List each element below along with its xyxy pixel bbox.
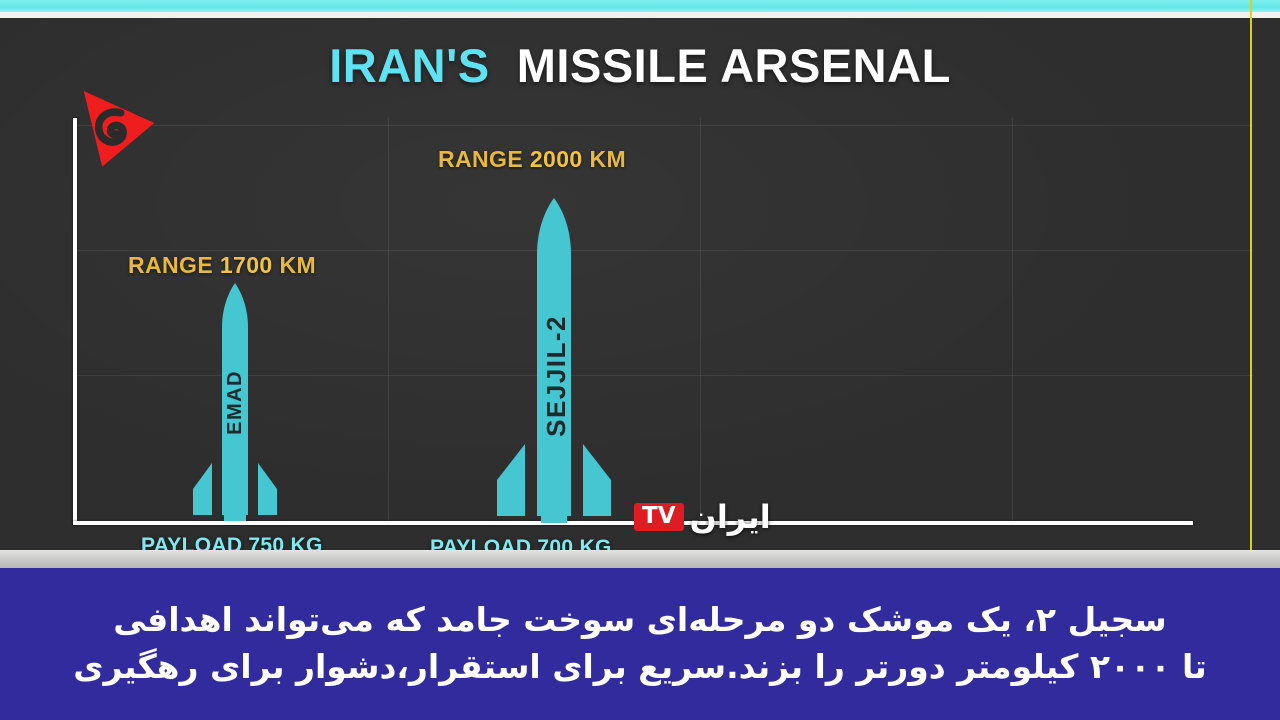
subtitle-bar: سجیل ۲، یک موشک دو مرحله‌ای سوخت جامد که…: [0, 568, 1280, 720]
gray-divider-band: [0, 550, 1280, 568]
broadcast-graphic-frame: IRAN'S MISSILE ARSENAL RANGE 1700 KM EMA…: [0, 0, 1280, 720]
watermark-tv-badge: TV: [634, 503, 684, 531]
channel-watermark: TV ایران: [634, 496, 771, 538]
watermark-channel-name: ایران: [690, 501, 771, 533]
range-label-sejjil2: RANGE 2000 KM: [438, 146, 626, 173]
range-unit-sejjil2: KM: [589, 146, 626, 172]
missile-label-sejjil2: SEJJIL-2: [541, 315, 572, 437]
subtitle-line-2: تا ۲۰۰۰ کیلومتر دورتر را بزند.سریع برای …: [73, 644, 1207, 691]
missile-group-sejjil2: RANGE 2000 KM SEJJIL-2 PAYLOAD 700 KG: [0, 0, 1280, 560]
range-value-sejjil2: 2000: [530, 146, 583, 172]
yellow-vertical-rule: [1250, 0, 1252, 568]
range-prefix-sejjil2: RANGE: [438, 146, 523, 172]
subtitle-line-1: سجیل ۲، یک موشک دو مرحله‌ای سوخت جامد که…: [113, 597, 1166, 644]
